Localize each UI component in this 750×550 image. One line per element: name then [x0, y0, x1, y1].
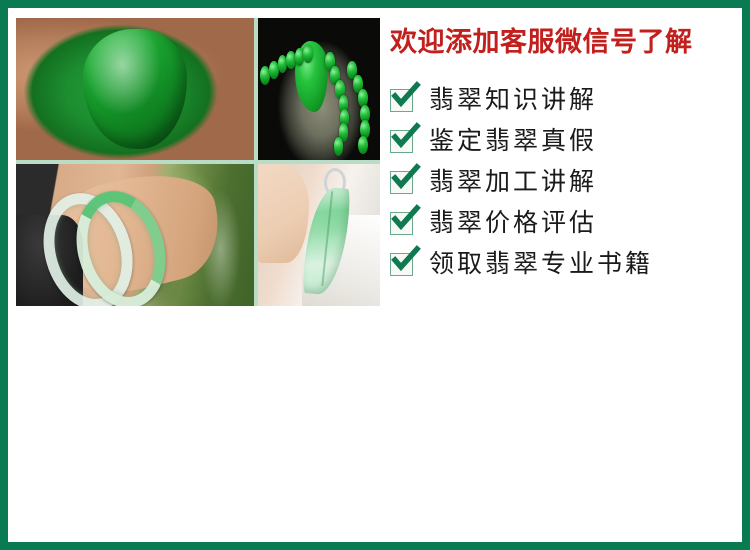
- page-title: 欢迎添加客服微信号了解: [390, 26, 742, 58]
- promo-banner: 欢迎添加客服微信号了解 翡翠知识讲解 鉴定翡翠真假: [0, 0, 750, 550]
- list-item-label: 领取翡翠专业书籍: [429, 252, 653, 277]
- check-mark-icon: [390, 171, 413, 194]
- neck-skin: [258, 164, 309, 263]
- check-mark-icon: [390, 130, 413, 153]
- list-item: 翡翠知识讲解: [390, 80, 742, 121]
- photo-jade-pendant-on-wood-carving: [16, 18, 254, 160]
- list-item: 领取翡翠专业书籍: [390, 244, 742, 285]
- photo-jade-leaf-pendant: [258, 164, 380, 306]
- photo-jade-bangles-on-wrist: [16, 164, 254, 306]
- list-item: 翡翠价格评估: [390, 203, 742, 244]
- check-mark-icon: [390, 253, 413, 276]
- list-item-label: 鉴定翡翠真假: [429, 129, 597, 154]
- check-mark-icon: [390, 89, 413, 112]
- jade-photo-collage: [16, 18, 380, 306]
- list-item-label: 翡翠价格评估: [429, 211, 597, 236]
- benefits-checklist: 翡翠知识讲解 鉴定翡翠真假 翡翠加工讲解: [390, 80, 742, 285]
- list-item: 翡翠加工讲解: [390, 162, 742, 203]
- bead-strand-group: [258, 18, 380, 160]
- photo-jade-bead-necklace-on-black: [258, 18, 380, 160]
- list-item-label: 翡翠知识讲解: [429, 88, 597, 113]
- promo-content: 欢迎添加客服微信号了解 翡翠知识讲解 鉴定翡翠真假: [390, 26, 742, 301]
- list-item: 鉴定翡翠真假: [390, 121, 742, 162]
- check-mark-icon: [390, 212, 413, 235]
- list-item-label: 翡翠加工讲解: [429, 170, 597, 195]
